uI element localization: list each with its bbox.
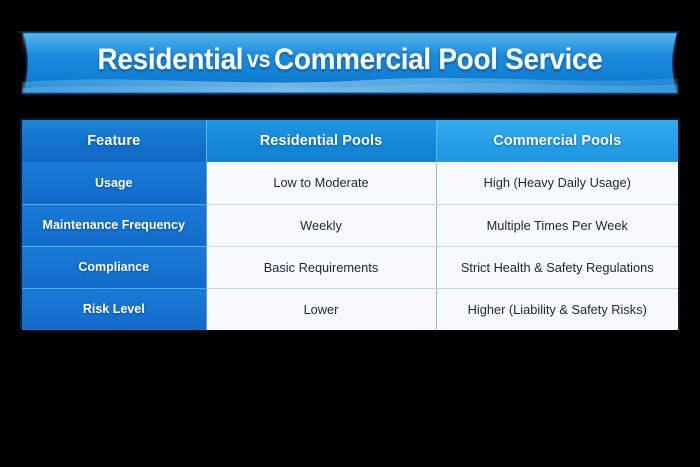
table-row: Risk Level Lower Higher (Liability & Saf… bbox=[22, 288, 678, 330]
cell-residential-maintenance-frequency: Weekly bbox=[206, 204, 436, 246]
title-banner: ResidentialvsCommercial Pool Service bbox=[18, 30, 682, 96]
table-row: Usage Low to Moderate High (Heavy Daily … bbox=[22, 162, 678, 204]
banner-title-part1: Residential bbox=[98, 45, 244, 75]
comparison-table-container: Feature Residential Pools Commercial Poo… bbox=[20, 118, 680, 328]
column-header-residential: Residential Pools bbox=[206, 120, 436, 162]
cell-commercial-maintenance-frequency: Multiple Times Per Week bbox=[436, 204, 678, 246]
table-row: Compliance Basic Requirements Strict Hea… bbox=[22, 246, 678, 288]
cell-residential-compliance: Basic Requirements bbox=[206, 246, 436, 288]
banner-title-vs: vs bbox=[243, 48, 274, 71]
table-header: Feature Residential Pools Commercial Poo… bbox=[22, 120, 678, 162]
row-label-maintenance-frequency: Maintenance Frequency bbox=[22, 204, 206, 246]
cell-commercial-compliance: Strict Health & Safety Regulations bbox=[436, 246, 678, 288]
column-header-feature: Feature bbox=[22, 120, 206, 162]
table-row: Maintenance Frequency Weekly Multiple Ti… bbox=[22, 204, 678, 246]
cell-commercial-usage: High (Heavy Daily Usage) bbox=[436, 162, 678, 204]
banner-title-text: ResidentialvsCommercial Pool Service bbox=[41, 30, 659, 96]
cell-commercial-risk-level: Higher (Liability & Safety Risks) bbox=[436, 288, 678, 330]
row-label-risk-level: Risk Level bbox=[22, 288, 206, 330]
table-body: Usage Low to Moderate High (Heavy Daily … bbox=[22, 162, 678, 330]
row-label-compliance: Compliance bbox=[22, 246, 206, 288]
slide-canvas: ResidentialvsCommercial Pool Service Fea… bbox=[0, 0, 700, 467]
cell-residential-risk-level: Lower bbox=[206, 288, 436, 330]
column-header-commercial: Commercial Pools bbox=[436, 120, 678, 162]
row-label-usage: Usage bbox=[22, 162, 206, 204]
comparison-table: Feature Residential Pools Commercial Poo… bbox=[22, 120, 678, 330]
cell-residential-usage: Low to Moderate bbox=[206, 162, 436, 204]
header-row: Feature Residential Pools Commercial Poo… bbox=[22, 120, 678, 162]
banner-title-part2: Commercial Pool Service bbox=[274, 45, 603, 75]
